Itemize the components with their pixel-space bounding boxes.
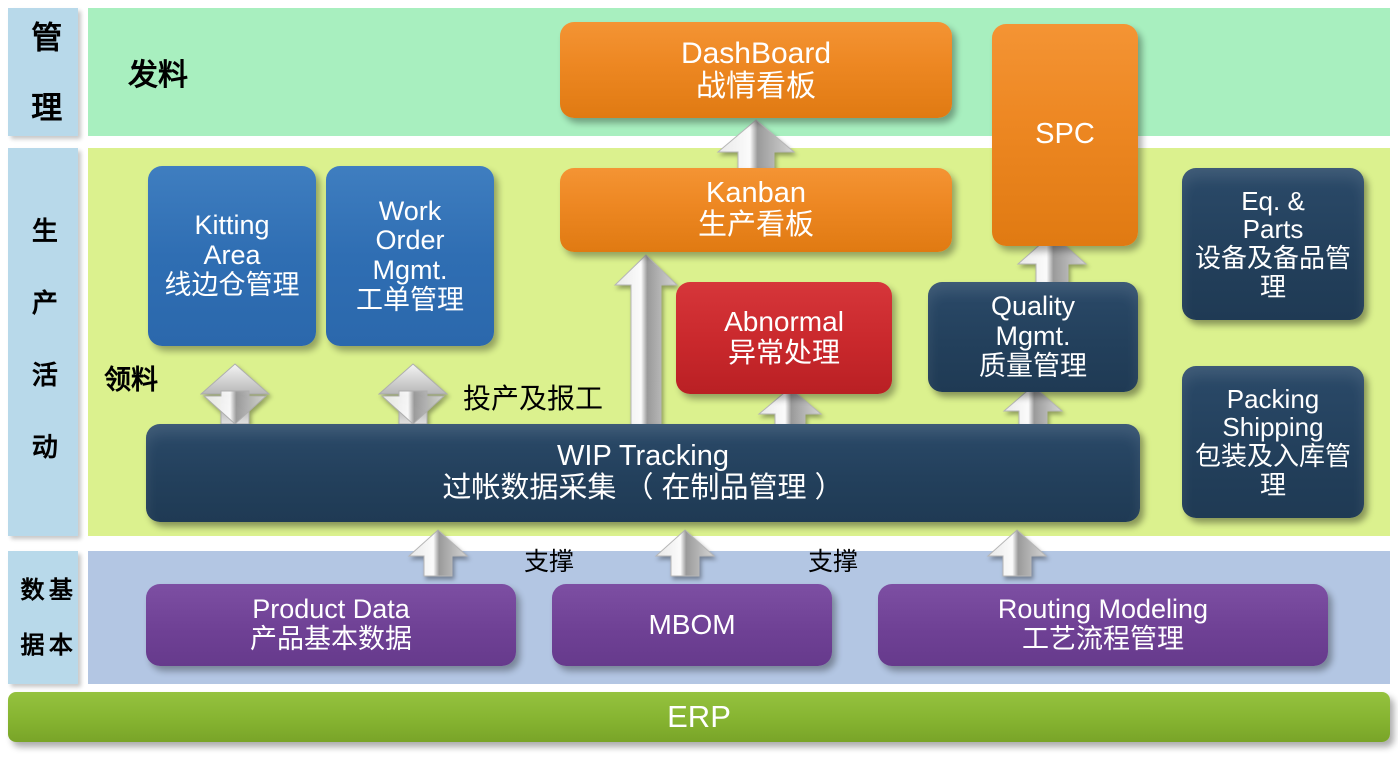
node-packing-shipping-cn: 包装及入库管理 bbox=[1188, 442, 1358, 499]
arrow-wip-to-kanban bbox=[611, 253, 681, 427]
node-abnormal[interactable]: Abnormal 异常处理 bbox=[676, 282, 892, 394]
node-packing-shipping[interactable]: Packing Shipping 包装及入库管理 bbox=[1182, 366, 1364, 518]
flow-label-issue-material: 发料 bbox=[128, 50, 188, 94]
node-eq-parts-en-line2: Parts bbox=[1243, 215, 1304, 244]
node-wip-tracking-cn: 过帐数据采集 （ 在制品管理 ） bbox=[442, 473, 843, 505]
node-mbom[interactable]: MBOM bbox=[552, 584, 832, 666]
node-quality-mgmt-en-line2: Mgmt. bbox=[995, 322, 1070, 352]
flow-label-production-report: 投产及报工 bbox=[463, 377, 603, 417]
arrow-workorder-to-wip bbox=[378, 363, 448, 425]
node-mbom-en: MBOM bbox=[648, 610, 735, 641]
node-quality-mgmt-en-line1: Quality bbox=[991, 292, 1075, 322]
node-dashboard[interactable]: DashBoard 战情看板 bbox=[560, 22, 952, 118]
node-product-data-en: Product Data bbox=[252, 595, 410, 625]
node-routing-modeling-en: Routing Modeling bbox=[998, 595, 1208, 625]
arrow-routing-to-wip bbox=[984, 528, 1050, 578]
category-tab-basic-data: 基 本 数 据 bbox=[8, 551, 78, 684]
node-spc[interactable]: SPC bbox=[992, 24, 1138, 246]
node-kitting-area-cn: 线边仓管理 bbox=[165, 271, 300, 301]
arrow-product-data-to-wip bbox=[405, 528, 471, 578]
node-eq-parts[interactable]: Eq. & Parts 设备及备品管理 bbox=[1182, 168, 1364, 320]
node-quality-mgmt[interactable]: Quality Mgmt. 质量管理 bbox=[928, 282, 1138, 392]
node-work-order-mgmt-cn: 工单管理 bbox=[356, 286, 464, 316]
node-product-data[interactable]: Product Data 产品基本数据 bbox=[146, 584, 516, 666]
flow-label-support-left: 支撑 bbox=[524, 542, 574, 578]
node-routing-modeling[interactable]: Routing Modeling 工艺流程管理 bbox=[878, 584, 1328, 666]
node-erp[interactable]: ERP bbox=[8, 692, 1390, 742]
diagram-canvas: 管 理 生 产 活 动 基 本 数 据 发料 领料 投产及报工 支撑 支撑 bbox=[0, 0, 1398, 773]
category-label-production: 生 产 活 动 bbox=[28, 217, 59, 467]
category-label-management: 管 理 bbox=[25, 21, 62, 124]
flow-label-pick-material: 领料 bbox=[104, 358, 158, 397]
node-quality-mgmt-cn: 质量管理 bbox=[979, 352, 1087, 382]
node-abnormal-cn: 异常处理 bbox=[728, 338, 840, 369]
node-eq-parts-en-line1: Eq. & bbox=[1241, 187, 1305, 216]
node-product-data-cn: 产品基本数据 bbox=[250, 625, 412, 655]
node-wip-tracking[interactable]: WIP Tracking 过帐数据采集 （ 在制品管理 ） bbox=[146, 424, 1140, 522]
node-kitting-area[interactable]: Kitting Area 线边仓管理 bbox=[148, 166, 316, 346]
flow-label-support-right: 支撑 bbox=[808, 542, 858, 578]
node-kanban-en: Kanban bbox=[706, 178, 806, 210]
node-work-order-mgmt-en-line2: Order bbox=[375, 226, 444, 256]
node-work-order-mgmt-en-line1: Work bbox=[379, 197, 442, 227]
node-eq-parts-cn: 设备及备品管理 bbox=[1188, 244, 1358, 301]
arrow-mbom-to-wip bbox=[652, 528, 718, 578]
node-wip-tracking-en: WIP Tracking bbox=[557, 441, 729, 473]
category-tab-management: 管 理 bbox=[8, 8, 78, 136]
node-kitting-area-en-line2: Area bbox=[203, 241, 260, 271]
node-spc-en: SPC bbox=[1035, 119, 1095, 151]
node-erp-en: ERP bbox=[667, 700, 731, 734]
node-routing-modeling-cn: 工艺流程管理 bbox=[1022, 625, 1184, 655]
node-abnormal-en: Abnormal bbox=[724, 307, 844, 338]
category-tab-production: 生 产 活 动 bbox=[8, 148, 78, 536]
category-label-basic-data: 基 本 数 据 bbox=[15, 551, 72, 684]
node-work-order-mgmt-en-line3: Mgmt. bbox=[372, 256, 447, 286]
node-dashboard-cn: 战情看板 bbox=[696, 70, 816, 103]
node-kanban[interactable]: Kanban 生产看板 bbox=[560, 168, 952, 252]
node-dashboard-en: DashBoard bbox=[681, 37, 831, 70]
node-kanban-cn: 生产看板 bbox=[698, 210, 814, 242]
node-packing-shipping-en-line1: Packing bbox=[1227, 385, 1320, 414]
node-work-order-mgmt[interactable]: Work Order Mgmt. 工单管理 bbox=[326, 166, 494, 346]
node-kitting-area-en-line1: Kitting bbox=[194, 211, 269, 241]
arrow-kitting-to-wip bbox=[200, 363, 270, 425]
node-packing-shipping-en-line2: Shipping bbox=[1222, 413, 1323, 442]
